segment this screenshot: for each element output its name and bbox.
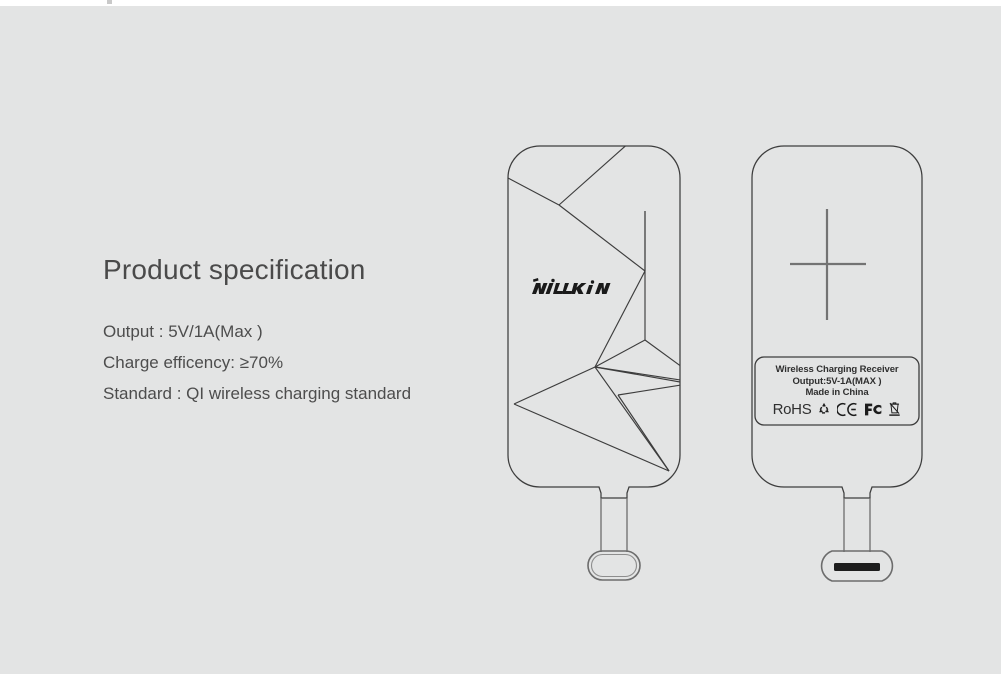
ce-mark-icon	[837, 402, 859, 417]
fc-mark-icon	[865, 402, 882, 417]
rohs-label: RoHS	[773, 401, 812, 418]
spec-line-output: Output : 5V/1A(Max )	[103, 316, 523, 347]
weee-bin-icon	[888, 401, 901, 417]
top-tick-mark	[107, 0, 112, 4]
certification-row: RoHS	[773, 401, 902, 418]
spec-label-content: Wireless Charging Receiver Output:5V-1A(…	[755, 357, 919, 425]
spec-line-efficiency: Charge efficency: ≥70%	[103, 347, 523, 378]
specification-block: Product specification Output : 5V/1A(Max…	[103, 255, 523, 409]
nillkin-logo	[531, 277, 617, 299]
label-line-output: Output:5V-1A(MAX )	[793, 376, 882, 388]
product-specification-page: Product specification Output : 5V/1A(Max…	[0, 0, 1001, 674]
recycle-icon	[817, 402, 831, 416]
spec-line-standard: Standard : QI wireless charging standard	[103, 378, 523, 409]
label-line-title: Wireless Charging Receiver	[776, 364, 899, 376]
page-title: Product specification	[103, 255, 523, 286]
label-line-origin: Made in China	[805, 387, 868, 399]
